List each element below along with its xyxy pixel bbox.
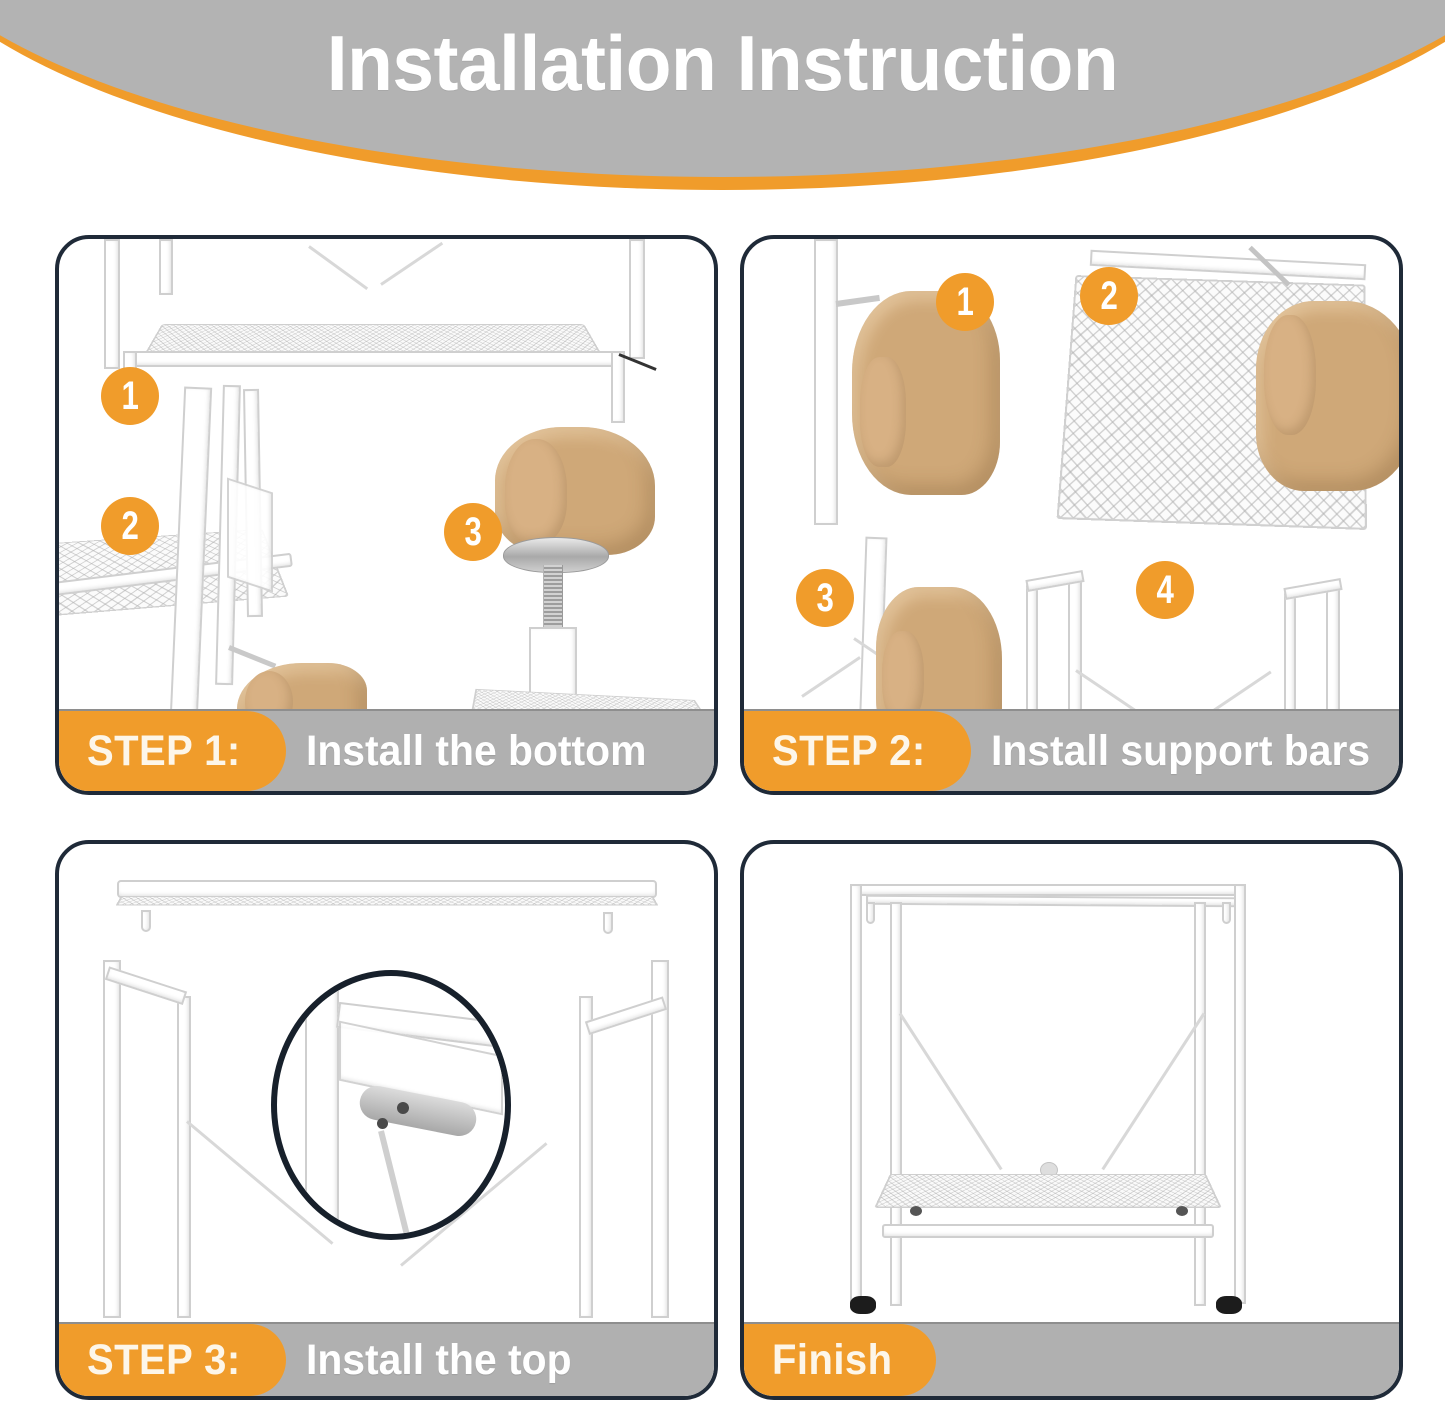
pin-lower	[228, 645, 276, 668]
finished-foot-right	[1216, 1296, 1242, 1314]
pill-label-finish: Finish	[772, 1336, 893, 1385]
brace-frame-left	[1075, 669, 1170, 711]
finished-shelf-screw-right	[1176, 1206, 1188, 1216]
illustration-finished-rack	[744, 844, 1399, 1324]
frame-right-outer-post	[1326, 583, 1340, 711]
shelf-right-mesh-surface	[467, 689, 714, 711]
top-shelf-hook-left	[141, 910, 151, 932]
thumb-fastening-lower	[882, 631, 924, 711]
caption-text-step-1: Install the bottom	[306, 727, 646, 776]
brace-wire-right	[380, 242, 443, 286]
illustration-step-1: 1 2 3	[59, 239, 714, 711]
badge-step1-3: 3	[444, 503, 502, 561]
finished-post-back-left	[850, 884, 862, 1304]
pill-label-step-1: STEP 1:	[87, 727, 241, 776]
brace-wire-left	[308, 245, 368, 290]
thumb-holding-mesh	[1264, 315, 1316, 435]
panel-step-3: STEP 3: Install the top	[55, 840, 718, 1400]
badge-step2-4: 4	[1136, 561, 1194, 619]
finished-top-rail-front	[866, 895, 1242, 908]
finished-foot-left	[850, 1296, 876, 1314]
brace-lower-left	[801, 656, 861, 698]
badge-step1-2: 2	[101, 497, 159, 555]
callout-screw-dot-2	[377, 1118, 388, 1129]
caption-step-1: STEP 1: Install the bottom	[59, 709, 714, 791]
pill-finish: Finish	[744, 1324, 936, 1396]
panel-finish: Finish	[740, 840, 1403, 1400]
finished-shelf-mesh-surface	[874, 1174, 1222, 1208]
finished-post-front-left	[890, 902, 902, 1306]
callout-post	[305, 988, 339, 1220]
leg-upper-right	[629, 239, 645, 359]
top-shelf-hook-right	[603, 912, 613, 934]
frame-right-inner-post	[1284, 591, 1296, 711]
callout-brace-wire	[378, 1130, 411, 1240]
badge-step2-3: 3	[796, 569, 854, 627]
header-banner: Installation Instruction	[0, 0, 1445, 200]
top-shelf-underside	[116, 896, 659, 906]
finished-post-back-right	[1234, 884, 1246, 1304]
finished-brace-right	[1101, 1013, 1205, 1171]
mesh-panel-top-rail	[1090, 250, 1366, 280]
finished-hook-left	[866, 902, 875, 924]
installation-instruction-page: Installation Instruction 1	[0, 0, 1445, 1406]
caption-step-2: STEP 2: Install support bars	[744, 709, 1399, 791]
finished-brace-left	[899, 1013, 1003, 1171]
illustration-step-3	[59, 844, 714, 1324]
illustration-step-2: 1 2 3	[744, 239, 1399, 711]
frame-left-inner-post	[1026, 583, 1038, 711]
detail-magnifier-callout	[271, 970, 511, 1240]
thumb-fastening-upper	[860, 357, 906, 467]
caption-text-step-2: Install support bars	[991, 727, 1370, 776]
panel-step-1: 1 2 3	[55, 235, 718, 795]
pill-label-step-2: STEP 2:	[772, 727, 926, 776]
left-frame-inner-post	[177, 996, 191, 1318]
connector-pin-1	[836, 295, 880, 307]
brace-frame-right	[1177, 671, 1272, 711]
shelf-bracket-plate	[227, 478, 273, 593]
post-upper-left	[814, 239, 838, 525]
caption-step-3: STEP 3: Install the top	[59, 1322, 714, 1396]
pill-step-2: STEP 2:	[744, 711, 971, 791]
finished-shelf-front-rail	[882, 1224, 1214, 1238]
finished-post-front-right	[1194, 902, 1206, 1306]
leveling-foot-shaft	[543, 565, 563, 631]
page-title: Installation Instruction	[29, 24, 1416, 102]
steps-grid: 1 2 3	[0, 230, 1445, 1406]
pill-step-1: STEP 1:	[59, 711, 286, 791]
callout-screw-dot-1	[397, 1102, 409, 1114]
badge-step2-2: 2	[1080, 267, 1138, 325]
panel-step-2: 1 2 3	[740, 235, 1403, 795]
shelf-top-right-bracket	[611, 351, 625, 423]
badge-step1-1: 1	[101, 367, 159, 425]
finished-shelf-screw-left	[910, 1206, 922, 1216]
left-frame-outer-post	[103, 960, 121, 1318]
badge-step2-1: 1	[936, 273, 994, 331]
pill-step-3: STEP 3:	[59, 1324, 286, 1396]
post-left-inner	[159, 239, 173, 295]
thumb-turning-foot	[505, 439, 567, 543]
leg-upper-left	[104, 239, 120, 369]
caption-text-step-3: Install the top	[306, 1336, 572, 1385]
caption-finish: Finish	[744, 1322, 1399, 1396]
shelf-top-front-rail	[125, 351, 623, 367]
frame-left-outer-post	[1068, 575, 1082, 711]
right-frame-inner-post	[579, 996, 593, 1318]
pill-label-step-3: STEP 3:	[87, 1336, 241, 1385]
finished-hook-right	[1222, 902, 1231, 924]
